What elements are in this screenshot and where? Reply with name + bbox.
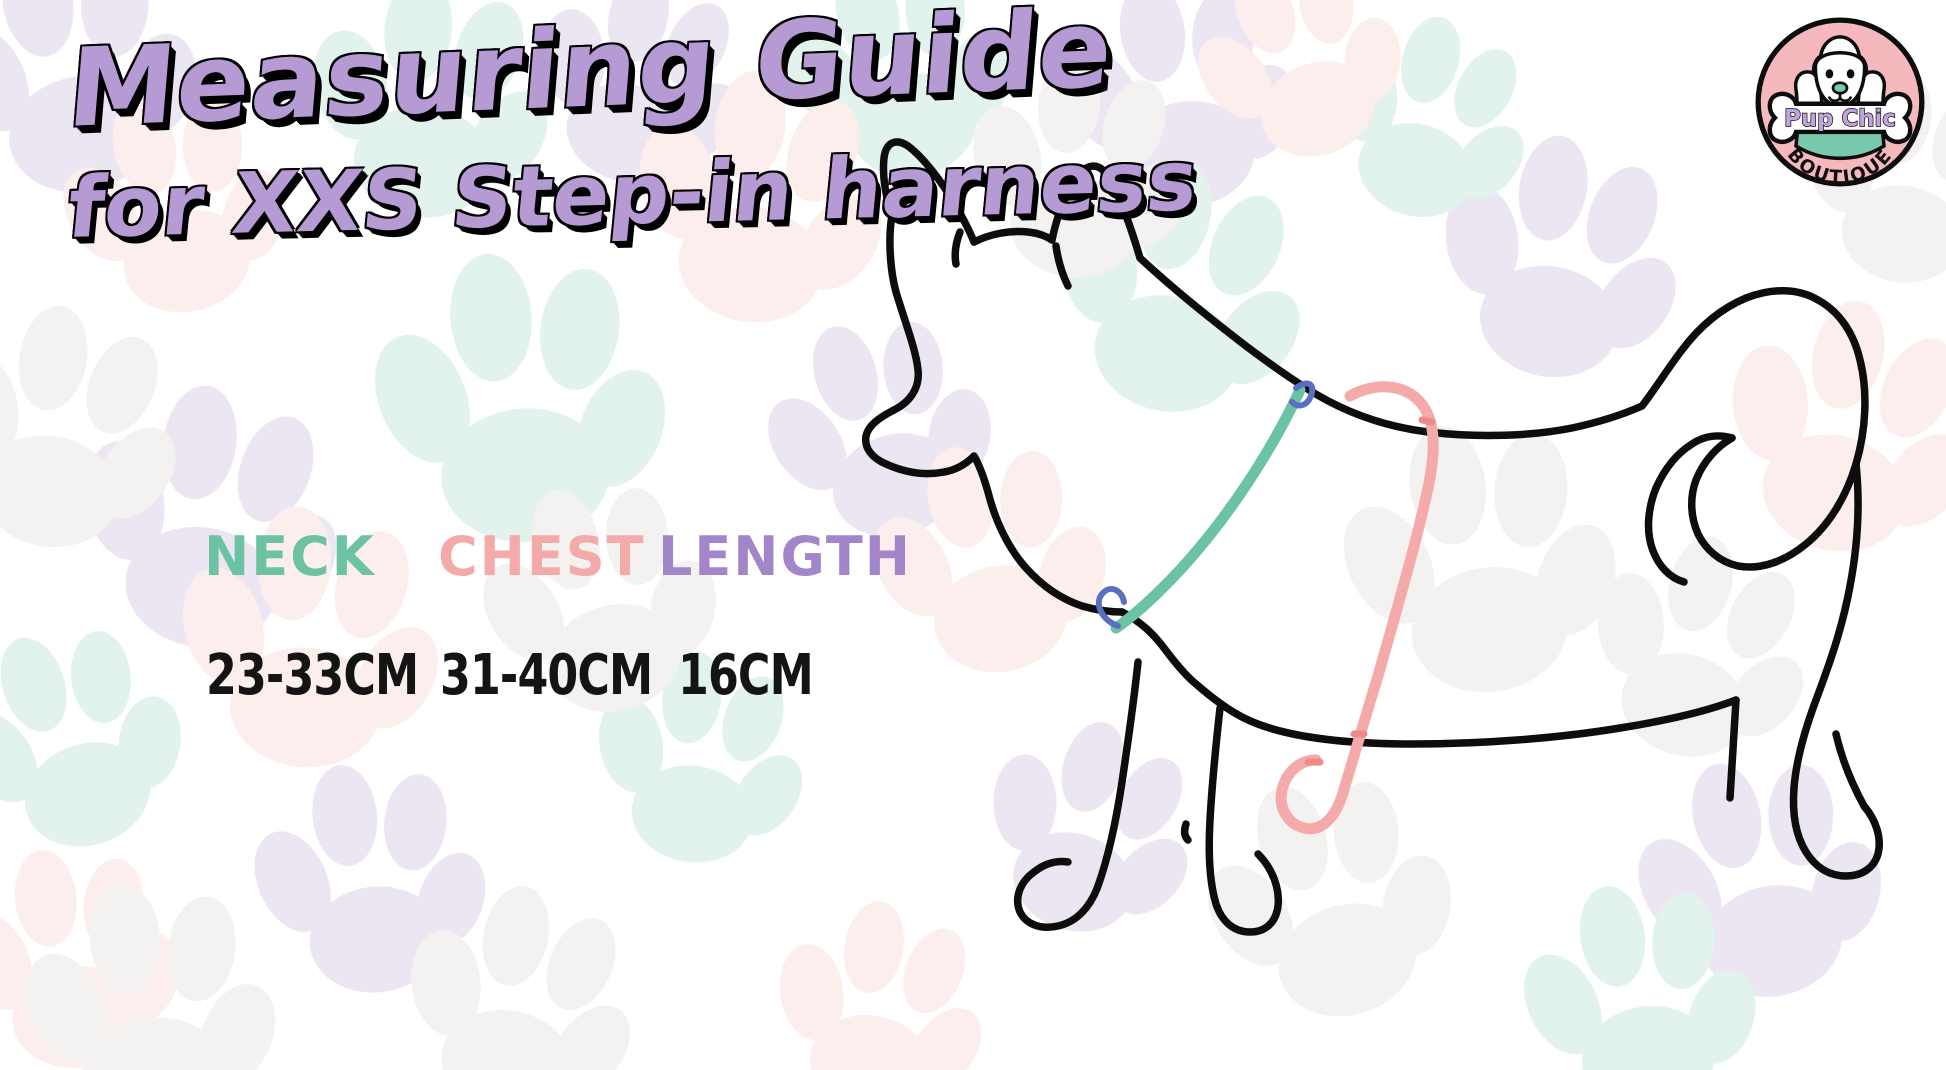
brand-logo[interactable]: Pup Chic BOUTIQUE [1752, 14, 1928, 190]
dog-hindquarter [1794, 464, 1858, 788]
dog-ear-inner-right [1056, 246, 1068, 286]
dog-front-paw-far [1034, 861, 1068, 872]
logo-brand-text: Pup Chic [1784, 106, 1896, 132]
page-title: Measuring Guide [64, 0, 1202, 144]
dog-neck-back [1140, 258, 1306, 388]
measurement-values-row: 23-33CM 31-40CM 16CM [188, 643, 888, 723]
measuring-guide-graphic: Measuring Guide for XXS Step-in harness … [0, 0, 1946, 1070]
dog-front-leg-far [1018, 662, 1138, 927]
dog-front-leg-knee [1185, 824, 1188, 840]
dog-hind-leg-far2 [1730, 700, 1736, 798]
chest-measure-loop [1281, 387, 1433, 829]
measurement-label-chest: CHEST [438, 525, 645, 588]
dog-hind-leg-far [1794, 788, 1880, 876]
page-subtitle: for XXS Step-in harness [64, 138, 1201, 250]
chest-measure-tick-top [1422, 420, 1432, 422]
title-block: Measuring Guide for XXS Step-in harness [64, 36, 1193, 250]
measurement-label-neck: NECK [204, 525, 376, 588]
dog-tail [1642, 291, 1865, 567]
measurement-value-neck: 23-33CM [206, 643, 418, 708]
neck-measure-line [1116, 390, 1300, 628]
measurement-value-chest: 31-40CM [440, 643, 652, 708]
dog-hind-leg-near [1836, 734, 1864, 806]
dog-tail-tip [1649, 488, 1684, 582]
dog-front-leg-near [1209, 708, 1278, 932]
measurement-value-length: 16CM [678, 643, 813, 708]
measurement-table: NECK CHEST LENGTH 23-33CM 31-40CM 16CM [188, 525, 888, 723]
measurement-labels-row: NECK CHEST LENGTH [188, 525, 888, 599]
measurement-label-length: LENGTH [658, 525, 912, 588]
dog-belly [1196, 684, 1736, 744]
